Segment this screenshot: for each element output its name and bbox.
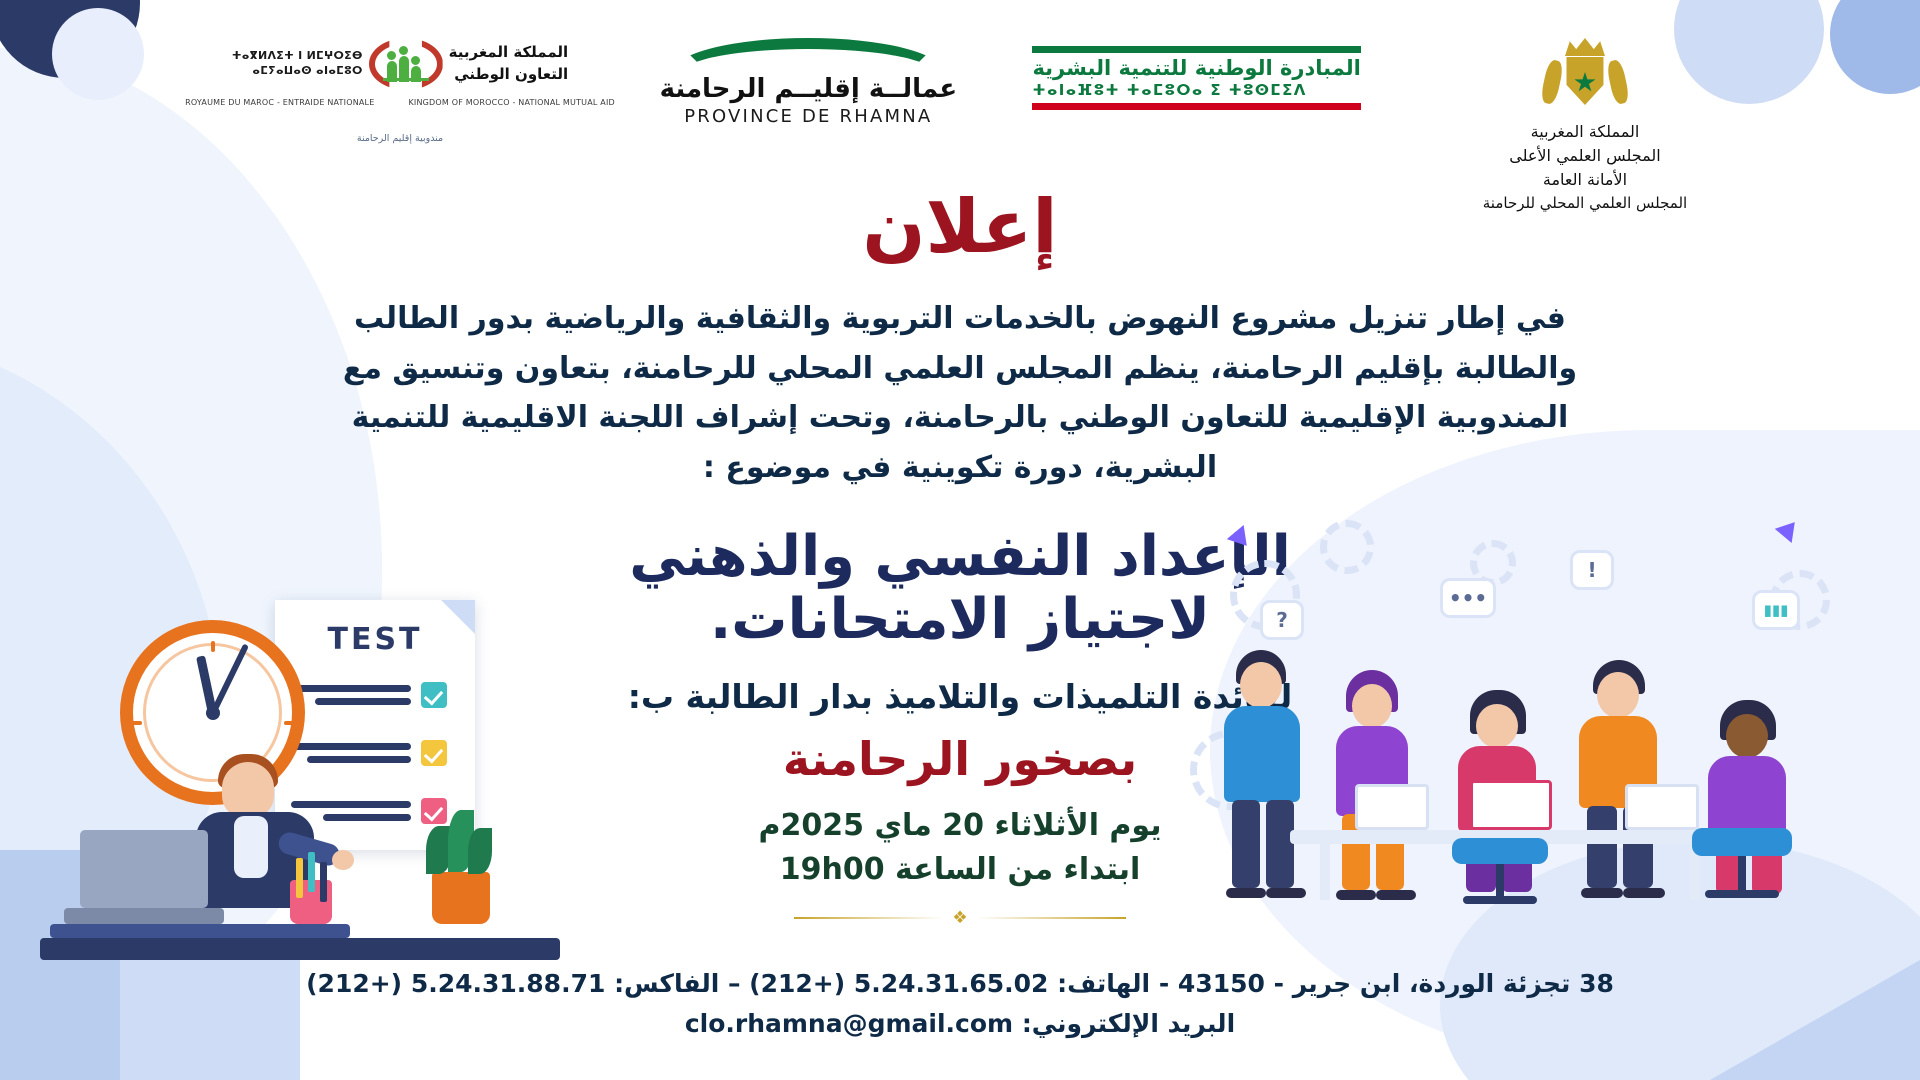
line — [315, 698, 411, 705]
line — [323, 814, 411, 821]
entraide-tifinagh-block: ⵜⴰⴳⵍⴷⵉⵜ ⵏ ⵍⵎⵖⵔⵉⴱ ⴰⵎⵢⴰⵡⴰⵙ ⴰⵏⴰⵎⵓⵔ — [232, 49, 363, 79]
entraide-logo-row: ⵜⴰⴳⵍⴷⵉⵜ ⵏ ⵍⵎⵖⵔⵉⴱ ⴰⵎⵢⴰⵡⴰⵙ ⴰⵏⴰⵎⵓⵔ — [232, 38, 568, 90]
ornament-bar-right — [794, 917, 944, 919]
laptop-icon-2 — [1470, 780, 1552, 830]
pencil-icon — [308, 852, 315, 892]
entraide-caption-en: KINGDOM OF MOROCCO - NATIONAL MUTUAL AID — [408, 98, 614, 107]
illustration-team-meeting: ? ••• ! ▮▮▮ — [1170, 520, 1890, 940]
indh-arabic-label: المبادرة الوطنية للتنمية البشرية — [1032, 53, 1360, 81]
entraide-arabic-block: المملكة المغربية التعاون الوطني — [449, 42, 569, 86]
footer-contact: 38 تجزئة الوردة، ابن جرير - 43150 - الها… — [0, 964, 1920, 1044]
student-head — [222, 762, 274, 818]
arms-crown-shape — [1565, 38, 1605, 56]
speech-bubble-chart: ▮▮▮ — [1752, 590, 1800, 630]
pencil-cup — [290, 880, 332, 924]
pencil-icon — [320, 862, 327, 902]
conseil-line-2: المجلس العلمي الأعلى — [1483, 144, 1687, 168]
logo-province-rhamna: عمالــة إقليــم الرحامنة PROVINCE DE RHA… — [643, 38, 973, 127]
plant-leaf — [468, 828, 492, 874]
line — [291, 685, 411, 692]
member-1-body — [1224, 706, 1300, 802]
laptop-base — [64, 908, 224, 924]
province-arc-icon — [673, 38, 943, 72]
arrow-icon — [1775, 515, 1803, 543]
announcement-intro-paragraph: في إطار تنزيل مشروع النهوض بالخدمات التر… — [300, 294, 1620, 492]
province-arabic-label: عمالــة إقليــم الرحامنة — [660, 74, 958, 104]
speech-bubble-exclaim: ! — [1570, 550, 1614, 590]
test-paper-label: TEST — [275, 622, 475, 657]
ornament-bar-left — [976, 917, 1126, 919]
entraide-person-3-head — [411, 56, 420, 65]
footer-address-line: 38 تجزئة الوردة، ابن جرير - 43150 - الها… — [0, 964, 1920, 1004]
line — [291, 743, 411, 750]
entraide-captions: ROYAUME DU MAROC - ENTRAIDE NATIONALE KI… — [185, 98, 615, 107]
clock-tick — [211, 641, 215, 652]
divider-ornament: ❖ — [740, 905, 1180, 931]
entraide-person-1-head — [387, 51, 396, 60]
member-2-shoe-left — [1336, 890, 1376, 900]
member-4-shoe-left — [1581, 888, 1623, 898]
team-member-4 — [1565, 660, 1680, 900]
member-3-head — [1476, 704, 1518, 748]
member-4-head — [1597, 672, 1639, 718]
desk-surface — [50, 924, 350, 938]
plant-pot — [432, 872, 490, 924]
arrow-icon — [1227, 525, 1255, 553]
poster-root: ⵜⴰⴳⵍⴷⵉⵜ ⵏ ⵍⵎⵖⵔⵉⴱ ⴰⵎⵢⴰⵡⴰⵙ ⴰⵏⴰⵎⵓⵔ — [0, 0, 1920, 1080]
conseil-line-1: المملكة المغربية — [1483, 120, 1687, 144]
indh-red-bar — [1032, 103, 1360, 110]
laptop-icon-1 — [1355, 784, 1429, 830]
chair-2-seat — [1692, 828, 1792, 856]
indh-box: المبادرة الوطنية للتنمية البشرية ⵜⴰⵏⴰⴼⵓⵜ… — [1026, 38, 1366, 118]
entraide-tifinagh-line2: ⴰⵎⵢⴰⵡⴰⵙ ⴰⵏⴰⵎⵓⵔ — [232, 64, 363, 79]
member-1-shoe-left — [1226, 888, 1266, 898]
entraide-base-line — [383, 78, 429, 81]
member-4-leg-left — [1587, 806, 1617, 888]
header-logo-bar: ⵜⴰⴳⵍⴷⵉⵜ ⵏ ⵍⵎⵖⵔⵉⴱ ⴰⵎⵢⴰⵡⴰⵙ ⴰⵏⴰⵎⵓⵔ — [0, 0, 1920, 205]
arms-right-lion — [1606, 59, 1631, 105]
member-4-shoe-right — [1623, 888, 1665, 898]
announcement-headline: إعلان — [0, 190, 1920, 264]
speech-bubble-dots: ••• — [1440, 578, 1496, 618]
member-5-head — [1726, 714, 1768, 758]
checklist-lines-1 — [291, 685, 411, 705]
table-leg-left — [1320, 842, 1330, 900]
entraide-person-2-head — [399, 46, 408, 55]
entraide-people-icon — [369, 38, 443, 90]
clock-tick — [131, 721, 142, 725]
chair-1-seat — [1452, 838, 1548, 864]
entraide-arabic-line1: المملكة المغربية — [449, 42, 569, 64]
checkbox-checked-teal-icon — [421, 682, 447, 708]
ornament-diamond-icon: ❖ — [952, 910, 967, 927]
checkbox-checked-pink-icon — [421, 798, 447, 824]
entraide-arabic-line2: التعاون الوطني — [449, 64, 569, 86]
entraide-sub-caption: مندوبية إقليم الرحامنة — [357, 133, 443, 144]
member-1-shoe-right — [1266, 888, 1306, 898]
speech-bubble-question: ? — [1260, 600, 1304, 640]
logo-indh: المبادرة الوطنية للتنمية البشرية ⵜⴰⵏⴰⴼⵓⵜ… — [1047, 38, 1347, 118]
member-2-head — [1352, 684, 1392, 728]
student-shirt — [234, 816, 268, 878]
clock-tick — [284, 721, 295, 725]
logo-entraide-nationale: ⵜⴰⴳⵍⴷⵉⵜ ⵏ ⵍⵎⵖⵔⵉⴱ ⴰⵎⵢⴰⵡⴰⵙ ⴰⵏⴰⵎⵓⵔ — [230, 38, 570, 144]
member-1-leg-right — [1266, 800, 1294, 888]
laptop-icon-3 — [1625, 784, 1699, 830]
indh-green-bar — [1032, 46, 1360, 53]
chair-2-stem — [1738, 856, 1746, 890]
chair-1-stem — [1496, 864, 1504, 898]
illustration-exam-student: TEST — [40, 600, 560, 960]
pencil-icon — [296, 858, 303, 898]
chair-2-base — [1705, 890, 1779, 898]
team-member-1 — [1210, 650, 1320, 900]
clock-center-pin — [206, 706, 220, 720]
entraide-tifinagh-line1: ⵜⴰⴳⵍⴷⵉⵜ ⵏ ⵍⵎⵖⵔⵉⴱ — [232, 49, 363, 64]
conseil-line-3: الأمانة العامة — [1483, 168, 1687, 192]
logo-conseil-superieur-oulema: المملكة المغربية المجلس العلمي الأعلى ال… — [1420, 38, 1750, 215]
desk-front — [40, 938, 560, 960]
entraide-caption-fr: ROYAUME DU MAROC - ENTRAIDE NATIONALE — [185, 98, 374, 107]
moroccan-coat-of-arms-icon — [1542, 38, 1628, 114]
student-hand — [332, 850, 354, 870]
member-1-leg-left — [1232, 800, 1260, 888]
checklist-row-1 — [291, 682, 447, 708]
gear-icon — [1320, 520, 1374, 574]
province-french-label: PROVINCE DE RHAMNA — [684, 106, 932, 127]
indh-tifinagh-label: ⵜⴰⵏⴰⴼⵓⵜ ⵜⴰⵎⵓⵔⴰ ⵉ ⵜⵓⵙⵎⵉⴷ — [1032, 81, 1360, 103]
chair-1-base — [1463, 896, 1537, 904]
arms-left-lion — [1540, 59, 1565, 105]
entraide-people-group — [387, 46, 421, 82]
office-chair-2 — [1680, 828, 1810, 918]
entraide-person-2 — [399, 46, 409, 82]
checkbox-checked-yellow-icon — [421, 740, 447, 766]
laptop-screen — [80, 830, 208, 908]
footer-email-line: البريد الإلكتروني: clo.rhamna@gmail.com — [0, 1004, 1920, 1044]
office-chair-1 — [1440, 838, 1560, 918]
member-1-head — [1240, 662, 1282, 708]
member-2-shoe-right — [1376, 890, 1416, 900]
